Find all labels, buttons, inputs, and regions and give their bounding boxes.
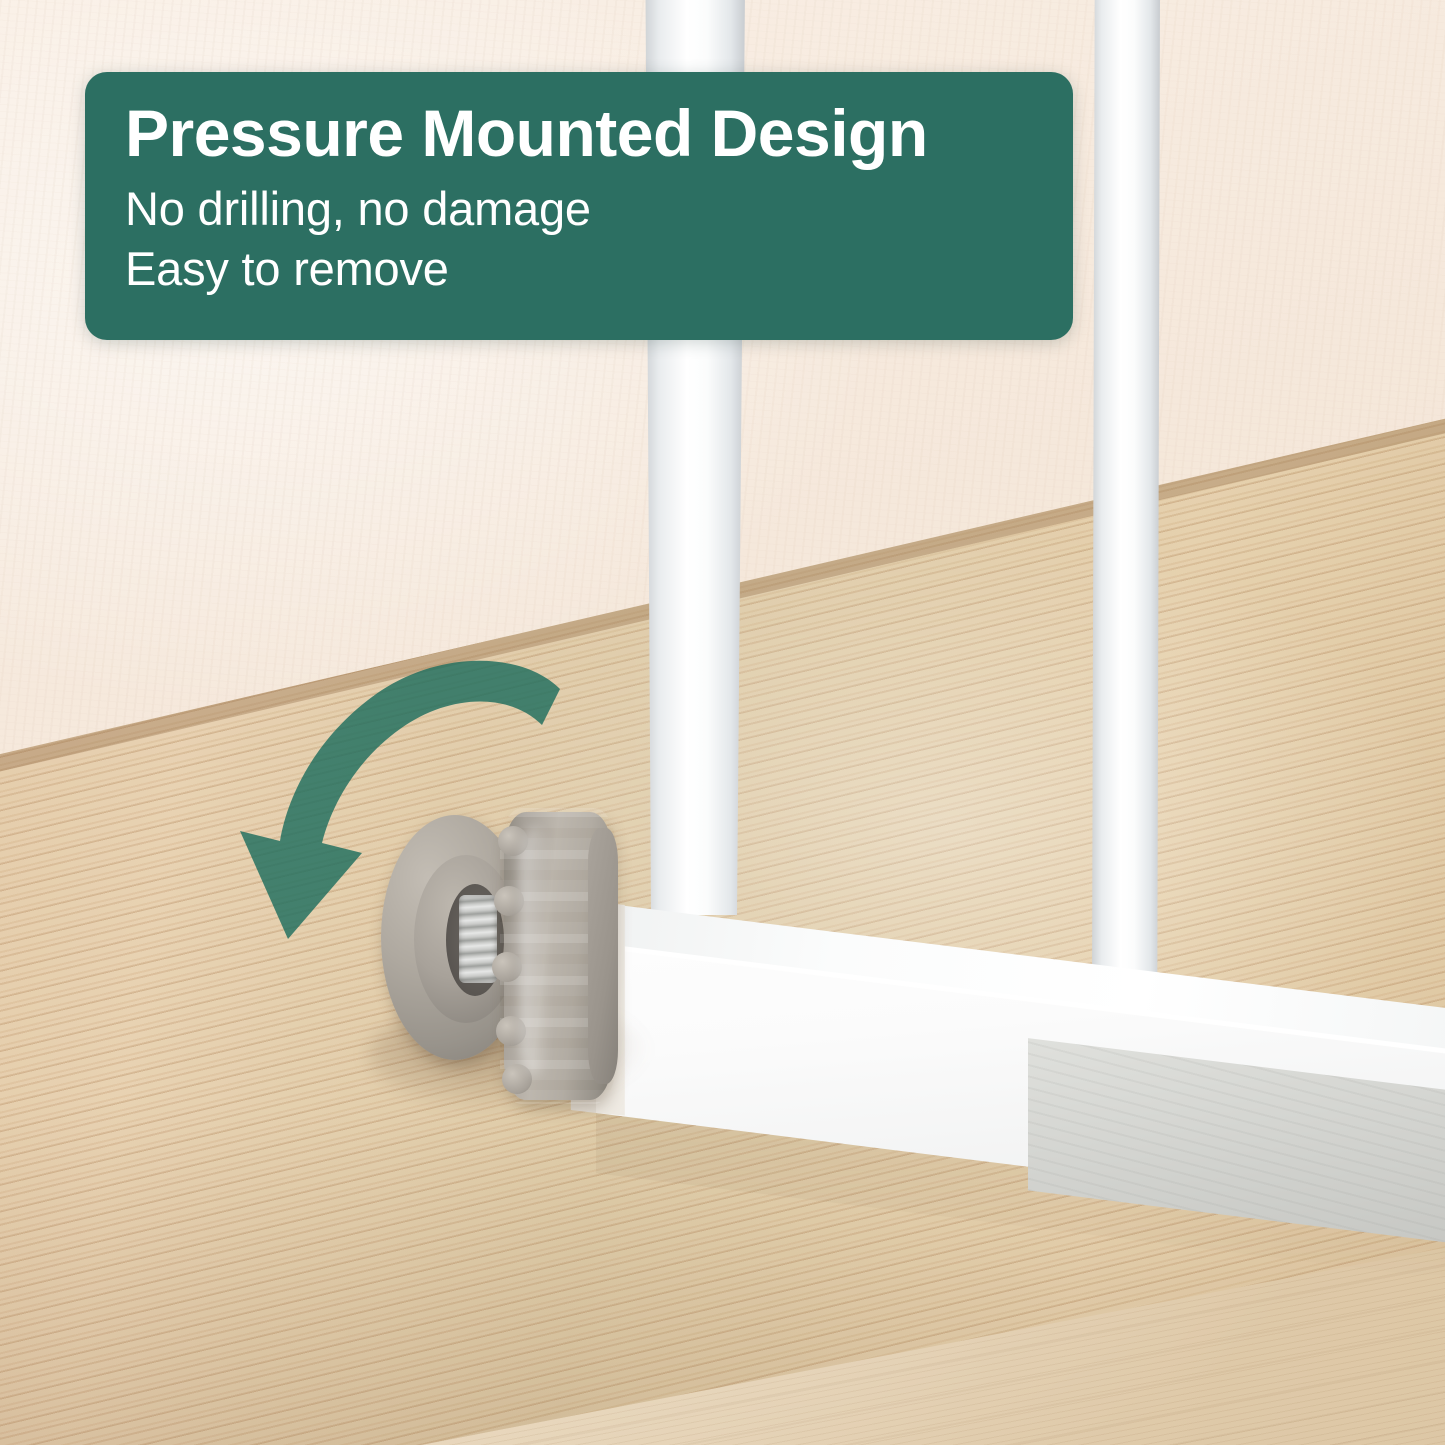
product-feature-image: Pressure Mounted Design No drilling, no … [0,0,1445,1445]
callout-subtitle-line-2: Easy to remove [125,239,1035,299]
callout-title: Pressure Mounted Design [125,98,1035,169]
callout-banner: Pressure Mounted Design No drilling, no … [85,72,1073,340]
curved-arrow-left-down-icon [222,645,582,965]
callout-subtitle-line-1: No drilling, no damage [125,179,1035,239]
gate-vertical-bar-right [1092,0,1160,995]
arrow-shape [240,661,560,939]
knob-front-face [588,828,618,1084]
gate-bottom-rail [560,855,1445,1285]
